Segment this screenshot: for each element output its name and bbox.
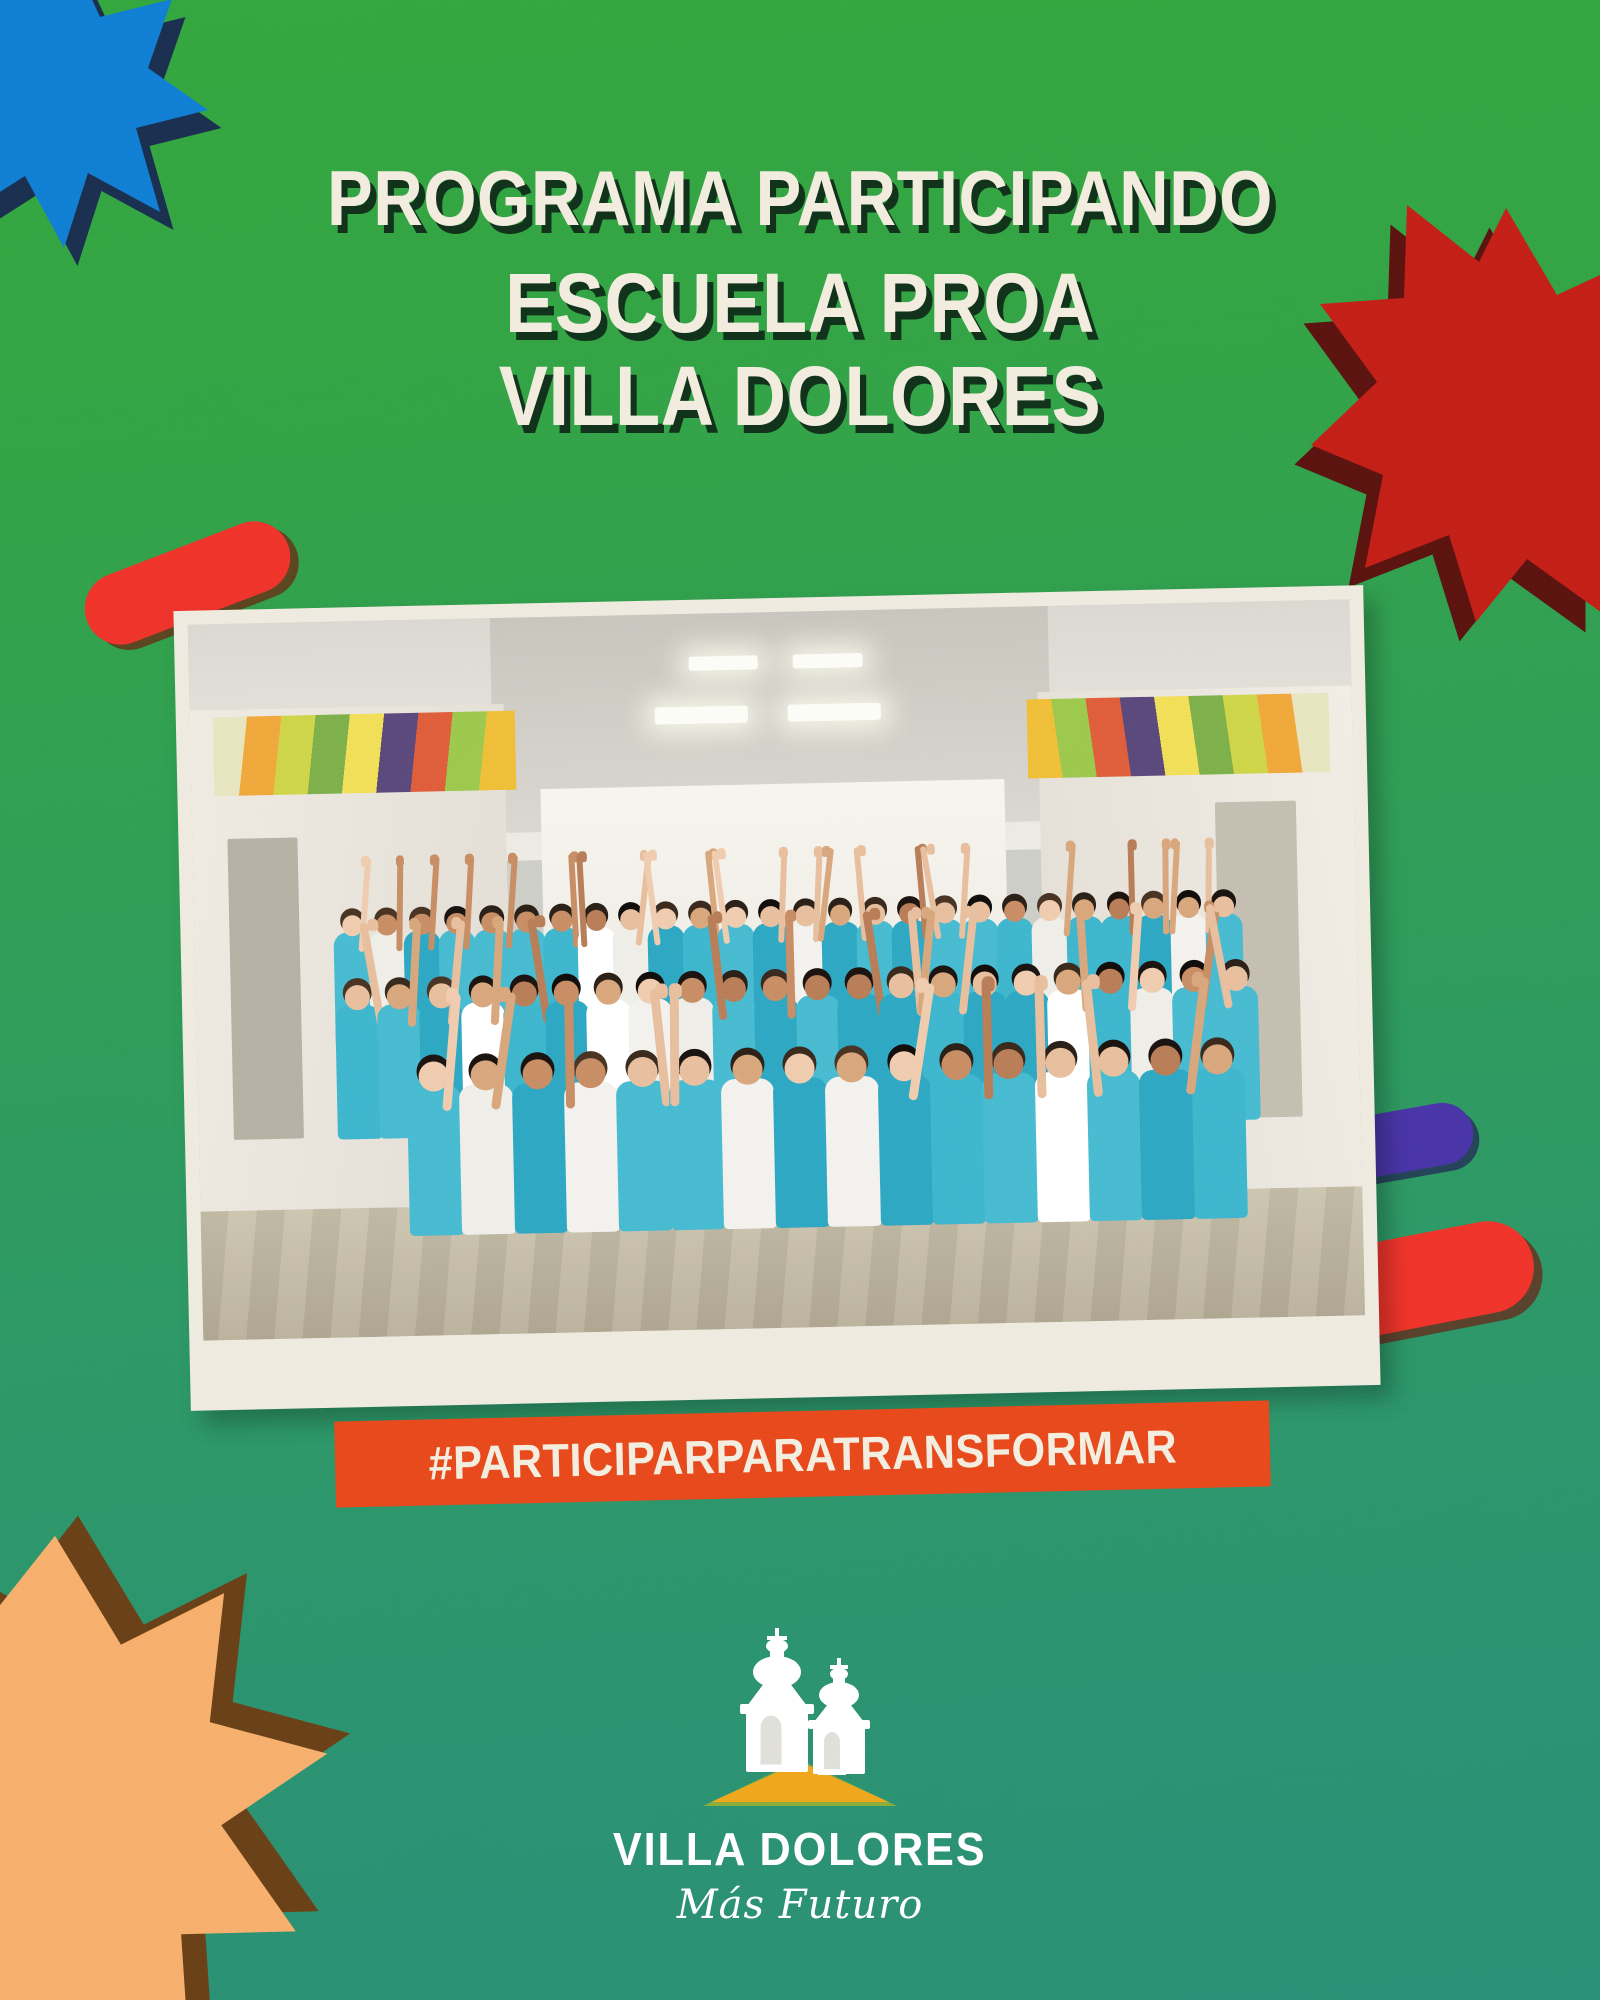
torso bbox=[930, 1074, 987, 1224]
waving-hand bbox=[564, 986, 577, 1001]
head bbox=[941, 1049, 972, 1080]
torso bbox=[825, 1076, 882, 1226]
waving-hand bbox=[717, 848, 726, 858]
torso bbox=[721, 1079, 778, 1229]
waving-hand bbox=[921, 907, 932, 919]
headline-block: PROGRAMA PARTICIPANDO ESCUELA PROA VILLA… bbox=[0, 160, 1600, 437]
person bbox=[718, 970, 777, 1229]
villa-dolores-logo: VILLA DOLORES Más Futuro bbox=[0, 1610, 1600, 1928]
church-towers-icon bbox=[685, 1610, 915, 1820]
student-crowd bbox=[191, 771, 1362, 1240]
torso bbox=[459, 1084, 516, 1234]
person bbox=[1189, 960, 1248, 1219]
waving-hand bbox=[961, 843, 970, 853]
head bbox=[345, 985, 370, 1010]
waving-hand bbox=[712, 911, 723, 923]
ceiling-light bbox=[654, 706, 747, 725]
person bbox=[927, 966, 986, 1225]
waving-hand bbox=[1087, 974, 1100, 989]
person bbox=[771, 969, 830, 1228]
ceiling-light bbox=[788, 703, 881, 722]
waving-hand bbox=[647, 850, 656, 860]
ceiling-light bbox=[793, 653, 863, 669]
waving-hand bbox=[963, 906, 974, 918]
waving-hand bbox=[1066, 841, 1075, 851]
person bbox=[666, 972, 725, 1231]
logo-name: VILLA DOLORES bbox=[613, 1822, 987, 1876]
head bbox=[836, 1052, 867, 1083]
waving-hand bbox=[1214, 900, 1225, 912]
waving-hand bbox=[508, 853, 517, 863]
torso bbox=[512, 1083, 569, 1233]
hashtag-label: #PARTICIPARPARATRANSFORMAR bbox=[428, 1418, 1178, 1490]
head bbox=[784, 1053, 815, 1084]
person bbox=[875, 967, 934, 1226]
torso bbox=[1191, 1068, 1248, 1218]
waving-hand bbox=[822, 846, 831, 856]
color-stripe-left bbox=[213, 711, 517, 796]
torso bbox=[773, 1077, 830, 1227]
torso bbox=[336, 1005, 383, 1140]
head bbox=[993, 1048, 1024, 1079]
head bbox=[575, 1057, 606, 1088]
waving-hand bbox=[926, 844, 935, 854]
waving-hand bbox=[668, 983, 681, 998]
raised-arm bbox=[982, 981, 994, 1100]
person bbox=[614, 973, 673, 1232]
head bbox=[1098, 1046, 1129, 1077]
waving-hand bbox=[1205, 838, 1214, 848]
person bbox=[823, 968, 882, 1227]
head bbox=[732, 1054, 763, 1085]
waving-hand bbox=[982, 977, 995, 992]
head bbox=[627, 1056, 658, 1087]
head bbox=[1202, 1044, 1233, 1075]
torso bbox=[407, 1085, 464, 1235]
waving-hand bbox=[578, 851, 587, 861]
ceiling-light bbox=[688, 655, 758, 671]
group-photo bbox=[188, 599, 1365, 1340]
photo-card bbox=[173, 585, 1380, 1411]
person bbox=[980, 965, 1039, 1224]
logo-tagline: Más Futuro bbox=[677, 1882, 924, 1928]
waving-hand bbox=[1170, 839, 1179, 849]
poster-canvas: PROGRAMA PARTICIPANDO ESCUELA PROA VILLA… bbox=[0, 0, 1600, 2000]
headline-line-3: VILLA DOLORES bbox=[96, 355, 1504, 437]
person bbox=[1084, 962, 1143, 1221]
raised-arm bbox=[564, 990, 575, 1109]
waving-hand bbox=[1034, 975, 1047, 990]
color-stripe-right bbox=[1026, 693, 1330, 778]
raised-arm bbox=[669, 988, 679, 1106]
headline-line-2: ESCUELA PROA bbox=[96, 262, 1504, 344]
waving-hand bbox=[1191, 972, 1204, 987]
torso bbox=[877, 1075, 934, 1225]
person bbox=[1032, 964, 1091, 1223]
headline-line-1: PROGRAMA PARTICIPANDO bbox=[96, 160, 1504, 236]
person bbox=[457, 976, 516, 1235]
waving-hand bbox=[1130, 902, 1141, 914]
head bbox=[1150, 1045, 1181, 1076]
waving-hand bbox=[857, 845, 866, 855]
hashtag-banner: #PARTICIPARPARATRANSFORMAR bbox=[334, 1400, 1271, 1507]
person bbox=[561, 974, 620, 1233]
person bbox=[405, 977, 464, 1236]
person bbox=[509, 975, 568, 1234]
